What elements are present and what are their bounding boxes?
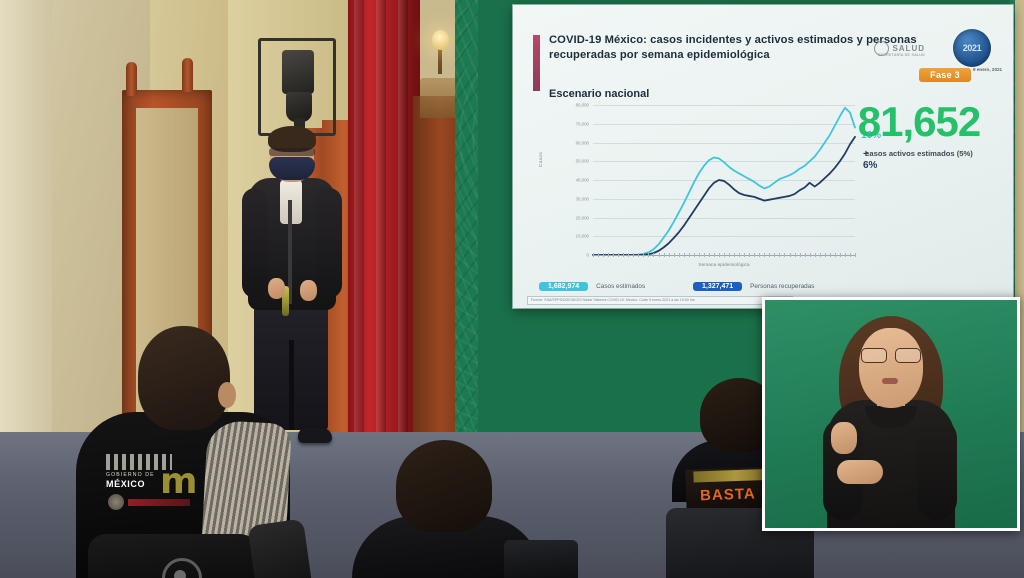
epidemic-curve-chart: Casos 010,00020,00030,00040,00050,00060,… [541, 105, 859, 270]
protest-sign-text: BASTA [700, 485, 756, 504]
chart-x-tick [608, 253, 609, 257]
chart-x-tick [764, 253, 765, 257]
chart-x-tick [638, 253, 639, 257]
chart-x-tick [815, 253, 816, 257]
chart-x-tick [719, 253, 720, 257]
chart-x-tick [734, 253, 735, 257]
chart-y-tick-label: 50,000 [576, 159, 589, 164]
wall-left-pilaster [0, 0, 52, 440]
chart-x-tick [704, 253, 705, 257]
chart-x-tick [820, 253, 821, 257]
chart-x-tick [800, 253, 801, 257]
vest-logo-line1: GOBIERNO DE [106, 472, 155, 478]
audience-center-head [396, 440, 492, 532]
speaker-hand-right [300, 280, 317, 301]
chart-x-tick [623, 253, 624, 257]
chart-x-tick [845, 253, 846, 257]
year-2021-logo-text: 2021 [953, 29, 991, 67]
vest-seal-icon [108, 494, 124, 510]
chart-x-tick [830, 253, 831, 257]
speaker-hand-left [268, 278, 285, 299]
chart-x-tick [653, 253, 654, 257]
chart-y-tick-label: 80,000 [576, 103, 589, 108]
interpreter-hand-lower [837, 460, 883, 484]
slide-subtitle: Escenario nacional [549, 88, 649, 100]
stage-light-head [282, 50, 314, 94]
speaker-glasses [269, 148, 315, 156]
door-finial-right [182, 58, 193, 92]
red-curtain [348, 0, 420, 445]
legend-label-personas-recuperadas: Personas recuperadas [750, 283, 814, 290]
chart-x-tick [840, 253, 841, 257]
chart-x-tick [709, 253, 710, 257]
chart-x-tick [694, 253, 695, 257]
vest-logo-line2: MÉXICO [106, 479, 145, 489]
chart-y-axis-label: Casos [539, 152, 544, 167]
chart-x-tick [790, 253, 791, 257]
chart-y-tick-label: 0 [587, 253, 589, 258]
chart-x-tick [628, 253, 629, 257]
projection-screen: COVID-19 México: casos incidentes y acti… [513, 5, 1013, 308]
vest-monogram: m [160, 464, 198, 500]
legend-value-casos-estimados: 1,682,974 [539, 282, 588, 291]
chart-y-tick-label: 30,000 [576, 196, 589, 201]
vest-gobierno-de-mexico-logo: GOBIERNO DE MÉXICO m [100, 454, 212, 512]
speaker-arm-right [316, 188, 342, 298]
active-cases-highlight: 81,652 casos activos estimados (5%) [841, 101, 997, 158]
chart-x-tick [810, 253, 811, 257]
chart-x-tick [739, 253, 740, 257]
chart-plot-area [593, 105, 855, 255]
active-cases-caption: casos activos estimados (5%) [841, 149, 997, 158]
legend-label-casos-estimados: Casos estimados [596, 283, 645, 290]
camera-bag-strap [247, 518, 312, 578]
chart-y-tick-label: 10,000 [576, 234, 589, 239]
chart-x-tick [664, 253, 665, 257]
salud-logo-subtitle: SECRETARÍA DE SALUD [878, 53, 925, 57]
chart-x-tick [684, 253, 685, 257]
chart-y-tick-label: 60,000 [576, 140, 589, 145]
operator-head [138, 326, 230, 430]
chart-x-tick [749, 253, 750, 257]
chart-x-tick [774, 253, 775, 257]
chart-x-tick [613, 253, 614, 257]
chart-x-tick [744, 253, 745, 257]
chart-x-ticks [593, 253, 855, 258]
interpreter-glasses-icon [861, 348, 921, 361]
sign-language-interpreter-inset [762, 297, 1020, 531]
active-cases-number: 81,652 [841, 101, 997, 143]
chart-x-axis-label: Semana epidemiológica [593, 263, 855, 268]
chart-x-tick [714, 253, 715, 257]
chart-x-tick [643, 253, 644, 257]
phase-badge: Fase 3 [919, 68, 971, 82]
year-2021-logo: 2021 [953, 29, 991, 67]
interpreter-face [859, 328, 923, 408]
slide-date: 9 enero, 2021 [973, 67, 1005, 73]
interpreter-hand-upper [831, 422, 857, 454]
slide-accent-bar [533, 35, 540, 91]
salud-logo-text: SALUD [892, 44, 925, 53]
chart-x-tick [659, 253, 660, 257]
phone-device [504, 540, 578, 578]
chart-x-tick [633, 253, 634, 257]
interpreter-arm-right [917, 418, 957, 520]
chart-x-tick [674, 253, 675, 257]
legend-item-casos-estimados: 1,682,974 Casos estimados [539, 282, 645, 291]
chart-x-tick [855, 253, 856, 257]
presentation-slide: COVID-19 México: casos incidentes y acti… [513, 5, 1013, 308]
sconce-arm [438, 48, 442, 74]
chart-x-tick [648, 253, 649, 257]
chart-x-tick [603, 253, 604, 257]
chart-series-lines [593, 105, 855, 255]
legend-item-personas-recuperadas: 1,327,471 Personas recuperadas [693, 282, 814, 291]
chart-x-tick [795, 253, 796, 257]
chart-x-tick [805, 253, 806, 257]
chart-x-tick [679, 253, 680, 257]
chart-y-tick-label: 70,000 [576, 121, 589, 126]
chart-x-tick [779, 253, 780, 257]
chart-x-tick [769, 253, 770, 257]
operator-ear [218, 382, 236, 408]
chart-y-tick-label: 20,000 [576, 215, 589, 220]
chart-x-tick [835, 253, 836, 257]
interpreter-mouth [882, 378, 898, 384]
legend-value-personas-recuperadas: 1,327,471 [693, 282, 742, 291]
interpreter-green-background [765, 300, 1017, 528]
chart-x-tick [784, 253, 785, 257]
chart-x-tick [754, 253, 755, 257]
chart-x-tick [759, 253, 760, 257]
slide-source-footnote: Fuente: SSA/SPPS/DGE/DIGIS Radar Sistema… [527, 296, 793, 305]
chart-y-tick-label: 40,000 [576, 178, 589, 183]
chart-x-tick [724, 253, 725, 257]
camera-operator: GOBIERNO DE MÉXICO m [52, 326, 320, 578]
vest-color-bar [128, 499, 190, 506]
chart-x-tick [669, 253, 670, 257]
door-finial-left [126, 62, 137, 96]
chart-x-tick [689, 253, 690, 257]
chart-x-tick [825, 253, 826, 257]
chart-y-ticks: 010,00020,00030,00040,00050,00060,00070,… [547, 105, 591, 255]
chart-x-tick [618, 253, 619, 257]
chart-x-tick [598, 253, 599, 257]
chart-x-tick [593, 253, 594, 257]
chart-x-tick [850, 253, 851, 257]
wall-sconce-light [432, 30, 449, 50]
chart-x-tick [729, 253, 730, 257]
speaker-arm-left [242, 188, 268, 298]
chart-x-tick [699, 253, 700, 257]
broadcast-frame: COVID-19 México: casos incidentes y acti… [0, 0, 1024, 578]
slide-title: COVID-19 México: casos incidentes y acti… [549, 33, 919, 63]
face-mask-icon [269, 157, 315, 180]
